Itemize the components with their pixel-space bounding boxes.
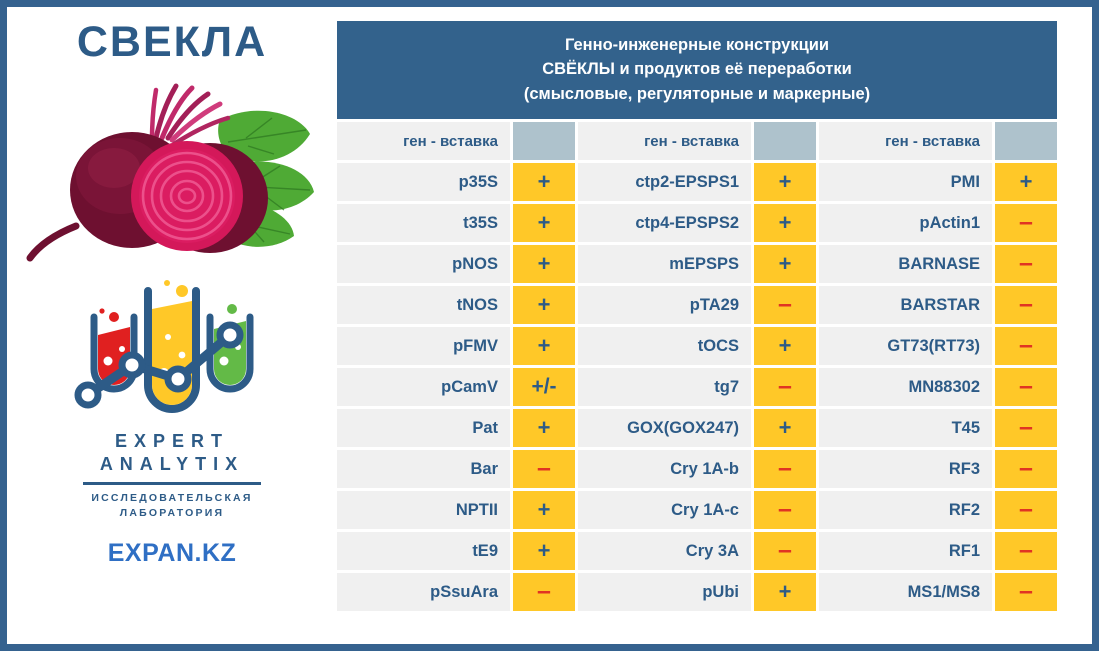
gene-presence-sign-cell: – bbox=[995, 368, 1057, 406]
logo-wordmark: EXPERT ANALYTIX ИССЛЕДОВАТЕЛЬСКАЯ ЛАБОРА… bbox=[83, 431, 261, 521]
table-header-row: ген - вставка bbox=[578, 122, 816, 160]
table-row[interactable]: MN88302– bbox=[819, 368, 1057, 406]
table-row[interactable]: pTA29– bbox=[578, 286, 816, 324]
table-header-line1: Генно-инженерные конструкции bbox=[345, 33, 1049, 57]
gene-presence-sign-cell: – bbox=[995, 491, 1057, 529]
column-header-label: ген - вставка bbox=[819, 122, 992, 160]
table-header-line2: СВЁКЛЫ и продуктов её переработки bbox=[345, 57, 1049, 81]
table-row[interactable]: tNOS+ bbox=[337, 286, 575, 324]
gene-name-cell: BARSTAR bbox=[819, 286, 992, 324]
gene-presence-sign-cell: +/- bbox=[513, 368, 575, 406]
gene-name-cell: p35S bbox=[337, 163, 510, 201]
gene-presence-sign-cell: – bbox=[754, 286, 816, 324]
gene-presence-sign-cell: + bbox=[995, 163, 1057, 201]
table-row[interactable]: BARSTAR– bbox=[819, 286, 1057, 324]
table-row[interactable]: tg7– bbox=[578, 368, 816, 406]
gene-name-cell: pFMV bbox=[337, 327, 510, 365]
logo-divider bbox=[83, 482, 261, 485]
beetroot-icon bbox=[22, 68, 322, 273]
gene-name-cell: pActin1 bbox=[819, 204, 992, 242]
gene-name-cell: pUbi bbox=[578, 573, 751, 611]
table-row[interactable]: t35S+ bbox=[337, 204, 575, 242]
table-row[interactable]: BARNASE– bbox=[819, 245, 1057, 283]
gene-presence-sign-cell: – bbox=[995, 245, 1057, 283]
gene-name-cell: pTA29 bbox=[578, 286, 751, 324]
gene-presence-sign-cell: – bbox=[995, 327, 1057, 365]
table-row[interactable]: MS1/MS8– bbox=[819, 573, 1057, 611]
gene-name-cell: tNOS bbox=[337, 286, 510, 324]
gene-presence-sign-cell: + bbox=[513, 163, 575, 201]
website-link[interactable]: EXPAN.KZ bbox=[108, 539, 237, 568]
gene-presence-sign-cell: + bbox=[754, 327, 816, 365]
gene-presence-sign-cell: – bbox=[754, 450, 816, 488]
table-row[interactable]: pNOS+ bbox=[337, 245, 575, 283]
gene-presence-sign-cell: – bbox=[513, 573, 575, 611]
gene-name-cell: RF3 bbox=[819, 450, 992, 488]
table-row[interactable]: pActin1– bbox=[819, 204, 1057, 242]
table-row[interactable]: mEPSPS+ bbox=[578, 245, 816, 283]
logo-tagline-line1: ИССЛЕДОВАТЕЛЬСКАЯ bbox=[83, 491, 261, 506]
table-row[interactable]: PMI+ bbox=[819, 163, 1057, 201]
gene-name-cell: pNOS bbox=[337, 245, 510, 283]
table-row[interactable]: Pat+ bbox=[337, 409, 575, 447]
gene-name-cell: mEPSPS bbox=[578, 245, 751, 283]
gene-presence-sign-cell: + bbox=[513, 204, 575, 242]
logo-line-analytix: ANALYTIX bbox=[83, 454, 261, 475]
table-header-banner: Генно-инженерные конструкции СВЁКЛЫ и пр… bbox=[337, 21, 1057, 119]
gene-presence-sign-cell: + bbox=[513, 327, 575, 365]
table-row[interactable]: pUbi+ bbox=[578, 573, 816, 611]
table-row[interactable]: Bar– bbox=[337, 450, 575, 488]
gene-presence-sign-cell: + bbox=[513, 532, 575, 570]
gene-presence-sign-cell: + bbox=[513, 409, 575, 447]
table-row[interactable]: RF3– bbox=[819, 450, 1057, 488]
gene-presence-sign-cell: + bbox=[754, 163, 816, 201]
gene-presence-sign-cell: + bbox=[513, 491, 575, 529]
table-row[interactable]: GT73(RT73)– bbox=[819, 327, 1057, 365]
gene-name-cell: MN88302 bbox=[819, 368, 992, 406]
table-row[interactable]: tOCS+ bbox=[578, 327, 816, 365]
column-header-sign-cell bbox=[754, 122, 816, 160]
gene-name-cell: PMI bbox=[819, 163, 992, 201]
gene-presence-sign-cell: + bbox=[754, 409, 816, 447]
gene-presence-sign-cell: – bbox=[754, 532, 816, 570]
gene-presence-sign-cell: + bbox=[513, 286, 575, 324]
gene-name-cell: t35S bbox=[337, 204, 510, 242]
table-row[interactable]: tE9+ bbox=[337, 532, 575, 570]
table-row[interactable]: Cry 3A– bbox=[578, 532, 816, 570]
table-row[interactable]: Cry 1A-b– bbox=[578, 450, 816, 488]
column-header-label: ген - вставка bbox=[337, 122, 510, 160]
gene-presence-sign-cell: + bbox=[754, 573, 816, 611]
column-header-sign-cell bbox=[995, 122, 1057, 160]
gene-name-cell: Cry 1A-c bbox=[578, 491, 751, 529]
table-row[interactable]: T45– bbox=[819, 409, 1057, 447]
gene-name-cell: pSsuAra bbox=[337, 573, 510, 611]
gene-name-cell: GT73(RT73) bbox=[819, 327, 992, 365]
table-column-group-0: ген - вставкаp35S+t35S+pNOS+tNOS+pFMV+pC… bbox=[337, 122, 575, 614]
table-row[interactable]: NPTII+ bbox=[337, 491, 575, 529]
table-column-group-1: ген - вставкаctp2-EPSPS1+ctp4-EPSPS2+mEP… bbox=[578, 122, 816, 614]
gene-name-cell: ctp2-EPSPS1 bbox=[578, 163, 751, 201]
gene-name-cell: RF1 bbox=[819, 532, 992, 570]
table-row[interactable]: RF2– bbox=[819, 491, 1057, 529]
gene-presence-sign-cell: – bbox=[513, 450, 575, 488]
column-header-label: ген - вставка bbox=[578, 122, 751, 160]
gene-presence-sign-cell: – bbox=[995, 286, 1057, 324]
gene-presence-sign-cell: + bbox=[754, 204, 816, 242]
beetroot-illustration bbox=[22, 68, 322, 273]
gene-name-cell: NPTII bbox=[337, 491, 510, 529]
table-row[interactable]: pCamV+/- bbox=[337, 368, 575, 406]
table-header-line3: (смысловые, регуляторные и маркерные) bbox=[345, 82, 1049, 106]
gene-presence-sign-cell: – bbox=[995, 532, 1057, 570]
gene-name-cell: GOX(GOX247) bbox=[578, 409, 751, 447]
gene-presence-sign-cell: + bbox=[513, 245, 575, 283]
test-tubes-chart-logo bbox=[72, 277, 272, 429]
poster-frame: СВЕКЛА bbox=[7, 7, 1092, 644]
gene-presence-sign-cell: – bbox=[754, 491, 816, 529]
table-column-group-2: ген - вставкаPMI+pActin1–BARNASE–BARSTAR… bbox=[819, 122, 1057, 614]
gene-name-cell: Bar bbox=[337, 450, 510, 488]
gene-name-cell: ctp4-EPSPS2 bbox=[578, 204, 751, 242]
logo-tagline-line2: ЛАБОРАТОРИЯ bbox=[83, 506, 261, 521]
table-row[interactable]: RF1– bbox=[819, 532, 1057, 570]
gene-presence-sign-cell: – bbox=[995, 409, 1057, 447]
gene-name-cell: BARNASE bbox=[819, 245, 992, 283]
table-header-row: ген - вставка bbox=[337, 122, 575, 160]
table-row[interactable]: ctp2-EPSPS1+ bbox=[578, 163, 816, 201]
gene-constructs-table: Генно-инженерные конструкции СВЁКЛЫ и пр… bbox=[337, 21, 1057, 614]
laboratory-logo-icon bbox=[72, 277, 272, 429]
gene-name-cell: Cry 1A-b bbox=[578, 450, 751, 488]
page-title: СВЕКЛА bbox=[77, 21, 267, 64]
gene-presence-sign-cell: + bbox=[754, 245, 816, 283]
gene-name-cell: pCamV bbox=[337, 368, 510, 406]
gene-name-cell: tg7 bbox=[578, 368, 751, 406]
gene-name-cell: tOCS bbox=[578, 327, 751, 365]
gene-name-cell: Pat bbox=[337, 409, 510, 447]
gene-name-cell: MS1/MS8 bbox=[819, 573, 992, 611]
gene-presence-sign-cell: – bbox=[995, 204, 1057, 242]
gene-presence-sign-cell: – bbox=[754, 368, 816, 406]
table-panel: Генно-инженерные конструкции СВЁКЛЫ и пр… bbox=[337, 7, 1092, 644]
column-header-sign-cell bbox=[513, 122, 575, 160]
gene-presence-sign-cell: – bbox=[995, 573, 1057, 611]
gene-name-cell: T45 bbox=[819, 409, 992, 447]
table-body: ген - вставкаp35S+t35S+pNOS+tNOS+pFMV+pC… bbox=[337, 122, 1057, 614]
table-header-row: ген - вставка bbox=[819, 122, 1057, 160]
gene-name-cell: Cry 3A bbox=[578, 532, 751, 570]
table-row[interactable]: pFMV+ bbox=[337, 327, 575, 365]
gene-name-cell: RF2 bbox=[819, 491, 992, 529]
gene-name-cell: tE9 bbox=[337, 532, 510, 570]
table-row[interactable]: pSsuAra– bbox=[337, 573, 575, 611]
logo-line-expert: EXPERT bbox=[83, 431, 261, 452]
table-row[interactable]: p35S+ bbox=[337, 163, 575, 201]
table-row[interactable]: GOX(GOX247)+ bbox=[578, 409, 816, 447]
gene-presence-sign-cell: – bbox=[995, 450, 1057, 488]
table-row[interactable]: Cry 1A-c– bbox=[578, 491, 816, 529]
table-row[interactable]: ctp4-EPSPS2+ bbox=[578, 204, 816, 242]
left-panel: СВЕКЛА bbox=[7, 7, 337, 644]
